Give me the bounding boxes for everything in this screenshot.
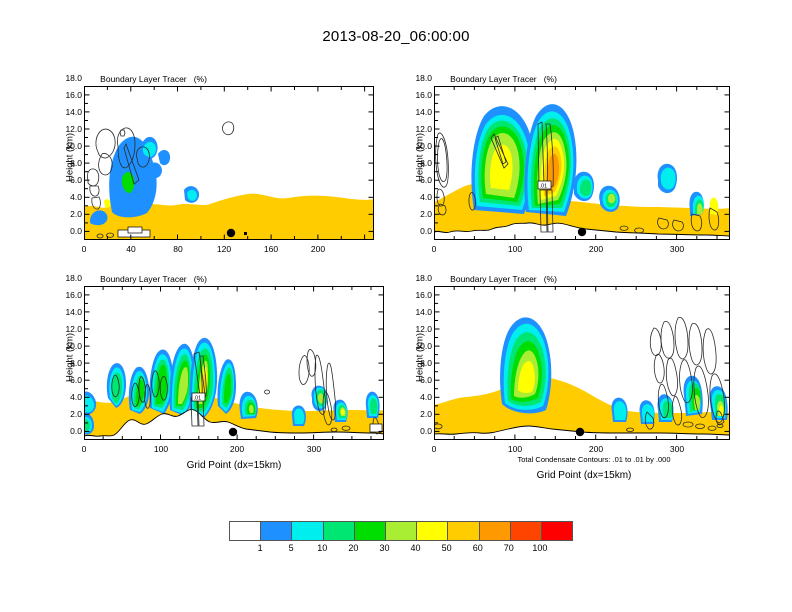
colorbar-swatch-0 xyxy=(230,522,261,540)
ytick-we-8: 16.0 xyxy=(48,290,82,300)
figure-canvas: 2013-08-20_06:00:00 Boundary Layer Trace… xyxy=(0,0,792,612)
xtick-sn-3: 120 xyxy=(209,244,239,254)
xtick-we-2: 200 xyxy=(222,444,252,454)
ytick-swne-0: 0.0 xyxy=(398,226,432,236)
xtick-sn-5: 200 xyxy=(303,244,333,254)
ytick-swne-4: 8.0 xyxy=(398,158,432,168)
plot-area-west-east: .01 xyxy=(84,286,384,440)
ytick-nwse-7: 14.0 xyxy=(398,307,432,317)
ytick-nwse-5: 10.0 xyxy=(398,341,432,351)
location-marker xyxy=(578,228,586,236)
ytick-we-9: 18.0 xyxy=(48,273,82,283)
ytick-we-7: 14.0 xyxy=(48,307,82,317)
x-axis-label-nw-se: Grid Point (dx=15km) xyxy=(479,470,689,481)
ytick-sn-9: 18.0 xyxy=(48,73,82,83)
ytick-nwse-4: 8.0 xyxy=(398,358,432,368)
plot-area-nw-se xyxy=(434,286,730,440)
ytick-we-0: 0.0 xyxy=(48,426,82,436)
xtick-nwse-2: 200 xyxy=(581,444,611,454)
ytick-sn-3: 6.0 xyxy=(48,175,82,185)
colorbar-strip xyxy=(229,521,573,541)
contour-note: Total Condensate Contours: .01 to .01 by… xyxy=(464,455,724,464)
ytick-we-4: 8.0 xyxy=(48,358,82,368)
ytick-nwse-6: 12.0 xyxy=(398,324,432,334)
colorbar-swatch-1 xyxy=(261,522,292,540)
ytick-sn-0: 0.0 xyxy=(48,226,82,236)
panel-header-tracer: Boundary Layer Tracer (%) xyxy=(450,274,557,284)
xtick-we-0: 0 xyxy=(69,444,99,454)
panel-header-tracer: Boundary Layer Tracer (%) xyxy=(100,74,207,84)
ytick-we-3: 6.0 xyxy=(48,375,82,385)
panel-header-tracer: Boundary Layer Tracer (%) xyxy=(100,274,207,284)
ytick-swne-5: 10.0 xyxy=(398,141,432,151)
colorbar-swatch-10 xyxy=(542,522,572,540)
colorbar-swatch-7 xyxy=(448,522,479,540)
xtick-sn-4: 160 xyxy=(256,244,286,254)
plot-area-sw-ne: .01 xyxy=(434,86,730,240)
xtick-sn-2: 80 xyxy=(163,244,193,254)
colorbar-swatch-3 xyxy=(324,522,355,540)
page-title: 2013-08-20_06:00:00 xyxy=(0,28,792,45)
xtick-nwse-1: 100 xyxy=(500,444,530,454)
xtick-sn-0: 0 xyxy=(69,244,99,254)
colorbar: 1510203040506070100 xyxy=(229,521,573,561)
ytick-we-2: 4.0 xyxy=(48,392,82,402)
ytick-sn-5: 10.0 xyxy=(48,141,82,151)
location-marker xyxy=(576,428,584,436)
x-axis-label-west-east: Grid Point (dx=15km) xyxy=(129,460,339,471)
ytick-we-1: 2.0 xyxy=(48,409,82,419)
ytick-swne-6: 12.0 xyxy=(398,124,432,134)
colorbar-tick-label: 100 xyxy=(520,543,560,553)
xtick-swne-3: 300 xyxy=(662,244,692,254)
ytick-swne-8: 16.0 xyxy=(398,90,432,100)
ytick-nwse-1: 2.0 xyxy=(398,409,432,419)
ytick-sn-7: 14.0 xyxy=(48,107,82,117)
colorbar-swatch-9 xyxy=(511,522,542,540)
xtick-swne-1: 100 xyxy=(500,244,530,254)
ytick-swne-7: 14.0 xyxy=(398,107,432,117)
colorbar-swatch-6 xyxy=(417,522,448,540)
svg-text:.01: .01 xyxy=(540,183,548,189)
plot-area-south-north xyxy=(84,86,374,240)
ytick-sn-4: 8.0 xyxy=(48,158,82,168)
xtick-swne-0: 0 xyxy=(419,244,449,254)
ytick-swne-3: 6.0 xyxy=(398,175,432,185)
colorbar-swatch-2 xyxy=(292,522,323,540)
ytick-swne-2: 4.0 xyxy=(398,192,432,202)
ytick-nwse-0: 0.0 xyxy=(398,426,432,436)
ytick-nwse-8: 16.0 xyxy=(398,290,432,300)
xtick-swne-2: 200 xyxy=(581,244,611,254)
colorbar-swatch-5 xyxy=(386,522,417,540)
xtick-we-1: 100 xyxy=(146,444,176,454)
location-marker xyxy=(229,428,237,436)
colorbar-swatch-4 xyxy=(355,522,386,540)
ytick-we-6: 12.0 xyxy=(48,324,82,334)
xtick-we-3: 300 xyxy=(299,444,329,454)
ytick-nwse-2: 4.0 xyxy=(398,392,432,402)
svg-text:.01: .01 xyxy=(194,395,202,401)
location-marker xyxy=(227,229,235,237)
ytick-we-5: 10.0 xyxy=(48,341,82,351)
xtick-sn-1: 40 xyxy=(116,244,146,254)
panel-header-tracer: Boundary Layer Tracer (%) xyxy=(450,74,557,84)
xtick-nwse-0: 0 xyxy=(419,444,449,454)
ytick-swne-9: 18.0 xyxy=(398,73,432,83)
ytick-sn-2: 4.0 xyxy=(48,192,82,202)
ytick-sn-6: 12.0 xyxy=(48,124,82,134)
ytick-sn-8: 16.0 xyxy=(48,90,82,100)
ytick-sn-1: 2.0 xyxy=(48,209,82,219)
colorbar-swatch-8 xyxy=(480,522,511,540)
xtick-nwse-3: 300 xyxy=(662,444,692,454)
ytick-nwse-9: 18.0 xyxy=(398,273,432,283)
ytick-swne-1: 2.0 xyxy=(398,209,432,219)
ytick-nwse-3: 6.0 xyxy=(398,375,432,385)
